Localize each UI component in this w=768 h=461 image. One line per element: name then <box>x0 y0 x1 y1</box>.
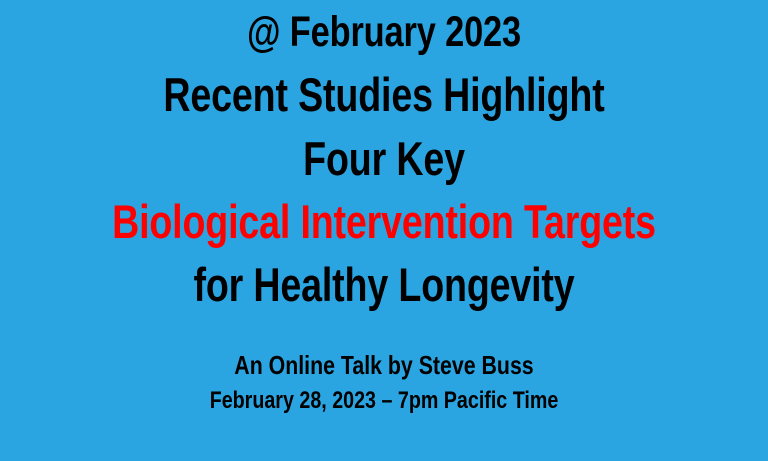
title-line-highlighted-topic: Biological Intervention Targets <box>77 198 691 245</box>
subtitle-datetime: February 28, 2023 – 7pm Pacific Time <box>69 388 699 413</box>
title-line-headline-secondary: Four Key <box>77 135 691 182</box>
subtitle-speaker: An Online Talk by Steve Buss <box>69 352 699 379</box>
title-line-month-year: @ February 2023 <box>77 11 691 54</box>
title-line-headline-primary: Recent Studies Highlight <box>77 71 691 118</box>
event-announcement-banner: @ February 2023 Recent Studies Highlight… <box>0 0 768 461</box>
title-line-headline-tertiary: for Healthy Longevity <box>77 261 691 308</box>
subtitle-block: An Online Talk by Steve Buss February 28… <box>0 352 768 413</box>
title-block: @ February 2023 Recent Studies Highlight… <box>0 0 768 308</box>
